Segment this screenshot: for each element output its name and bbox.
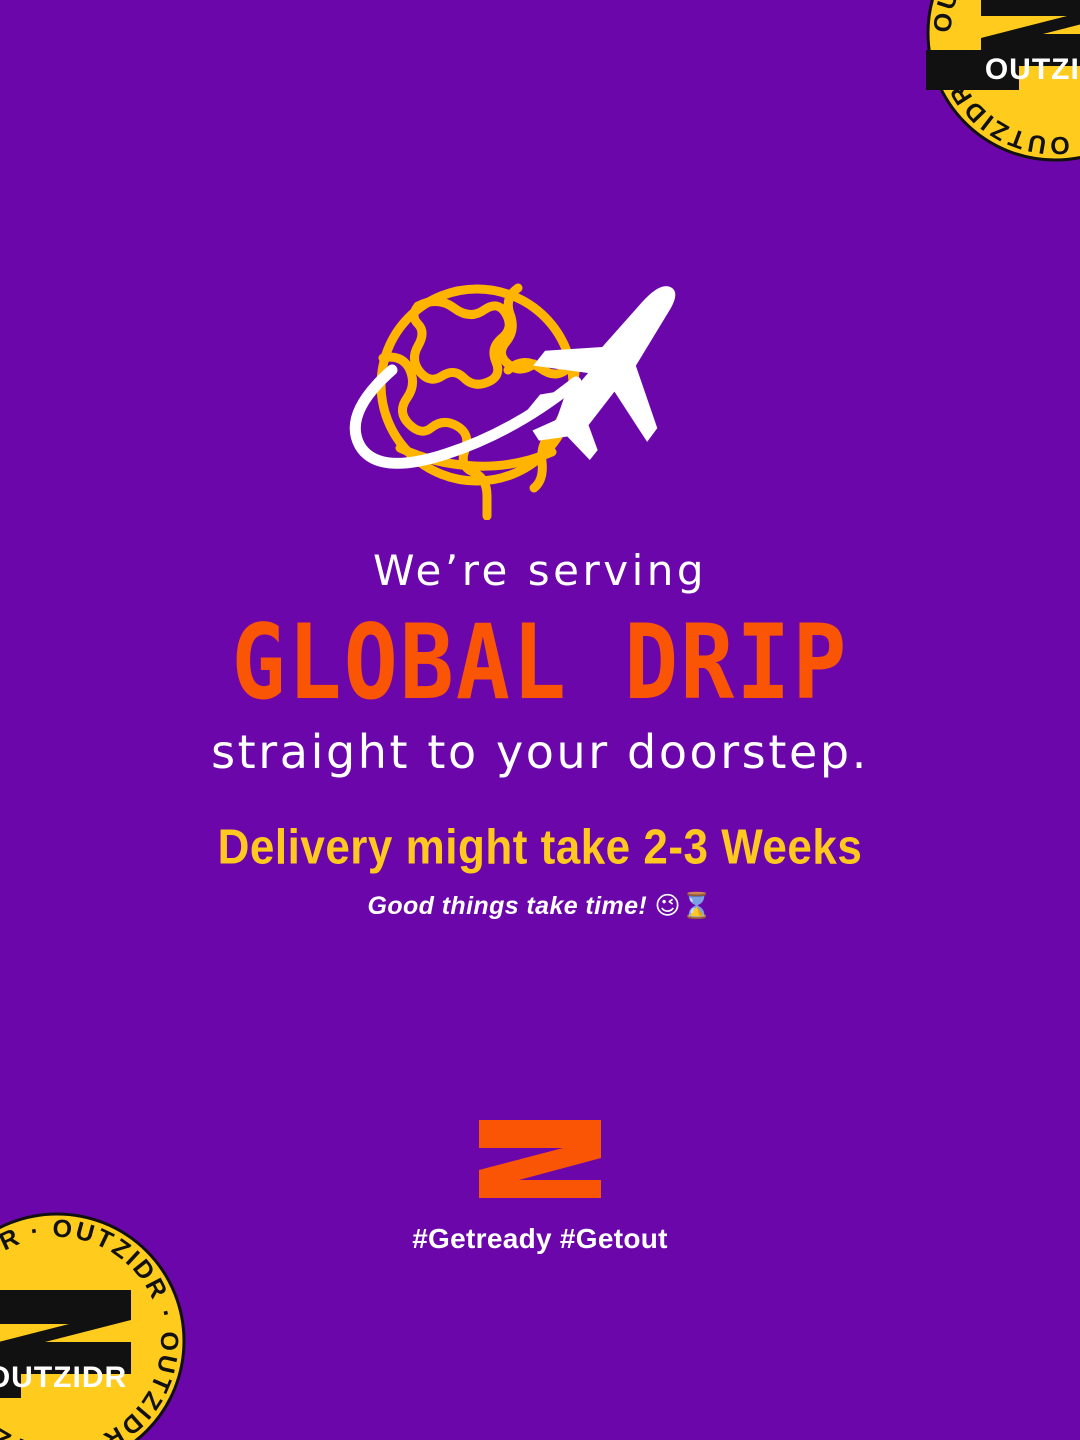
badge-center-wordmark: OUTZIDR	[926, 50, 1080, 90]
badge-bottom-left: OUTZIDR · OUTZIDR · OUTZIDR · OUTZIDR · …	[0, 1212, 186, 1440]
z-logo-icon	[477, 1118, 603, 1200]
delivery-notice-block: Delivery might take 2-3 Weeks Good thing…	[0, 820, 1080, 921]
delivery-subtext-label: Good things take time!	[367, 892, 647, 920]
delivery-subtext: Good things take time! 😉⌛	[0, 891, 1080, 921]
svg-text:OUTZIDR: OUTZIDR	[985, 53, 1080, 86]
delivery-time-text: Delivery might take 2-3 Weeks	[0, 820, 1080, 875]
headline-line-doorstep: straight to your doorstep.	[0, 727, 1080, 778]
headline-line-serving: We’re serving	[0, 548, 1080, 593]
svg-text:OUTZIDR: OUTZIDR	[0, 1361, 127, 1394]
globe-airplane-illustration	[340, 270, 740, 520]
headline-line-global-drip: GLOBAL DRIP	[0, 601, 1080, 724]
hourglass-icon: ⌛	[681, 891, 713, 920]
headline-block: We’re serving GLOBAL DRIP straight to yo…	[0, 548, 1080, 778]
promo-poster: We’re serving GLOBAL DRIP straight to yo…	[0, 0, 1080, 1440]
badge-center-wordmark: OUTZIDR	[0, 1358, 127, 1398]
badge-top-right: OUTZIDR · OUTZIDR · OUTZIDR · OUTZIDR · …	[926, 0, 1080, 162]
winking-face-icon: 😉	[655, 891, 681, 920]
